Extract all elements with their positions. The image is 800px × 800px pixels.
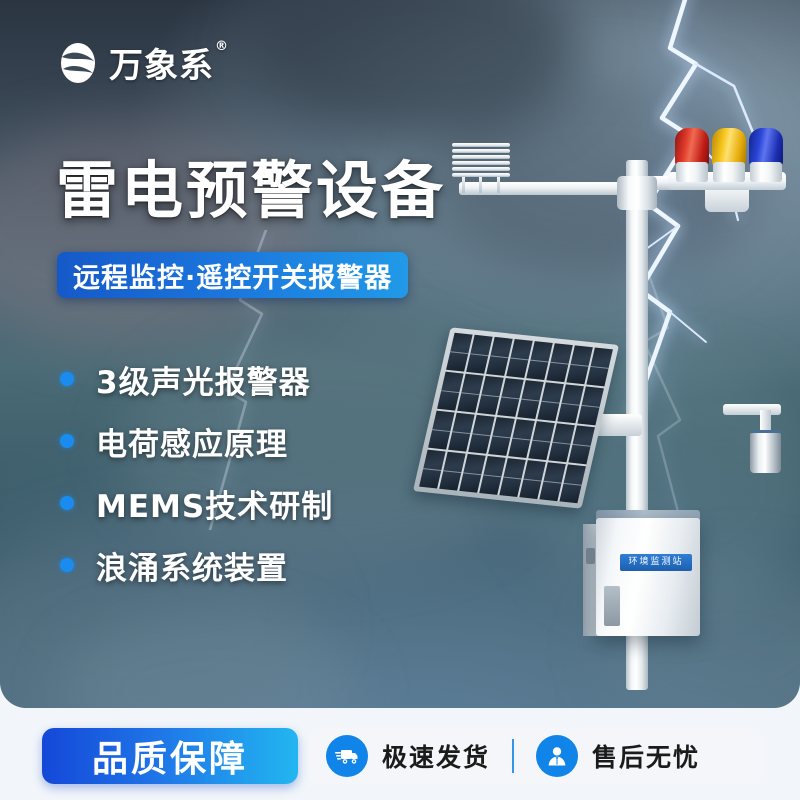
- delivery-truck-icon: [326, 735, 368, 777]
- feature-list: 3级声光报警器 电荷感应原理 MEMS技术研制 浪涌系统装置: [60, 348, 333, 596]
- service-label: 极速发货: [382, 738, 490, 774]
- brand-name: 万象系 ®: [109, 38, 229, 87]
- sensor-arm: [723, 404, 781, 415]
- feature-label: 浪涌系统装置: [96, 543, 288, 588]
- feature-label: 电荷感应原理: [96, 419, 288, 464]
- solar-panel: [413, 327, 619, 508]
- service-label: 售后无忧: [592, 738, 700, 774]
- blue-dot-icon: [60, 496, 74, 510]
- brand-logo: 万象系 ®: [56, 38, 229, 87]
- feature-item: 3级声光报警器: [60, 348, 333, 410]
- radiation-shield-sensor: [452, 143, 510, 177]
- cylindrical-sensor: [750, 430, 781, 473]
- page-title: 雷电预警设备: [56, 140, 446, 230]
- blue-dot-icon: [60, 558, 74, 572]
- feature-item: 浪涌系统装置: [60, 534, 333, 596]
- service-after-sales: 售后无忧: [518, 735, 718, 777]
- service-promises: 极速发货 售后无忧: [308, 728, 764, 784]
- footer-bar: 品质保障 极速发货: [0, 708, 800, 800]
- trademark-icon: ®: [215, 40, 229, 53]
- blue-alarm-beacon: [749, 128, 783, 184]
- feature-label: 3级声光报警器: [96, 357, 311, 402]
- control-box-vent: [604, 586, 620, 626]
- blue-dot-icon: [60, 434, 74, 448]
- subtitle-pill: 远程监控·遥控开关报警器: [57, 252, 408, 298]
- feature-label: MEMS技术研制: [96, 481, 333, 526]
- feature-item: MEMS技术研制: [60, 472, 333, 534]
- quality-guarantee-badge: 品质保障: [42, 728, 298, 784]
- shield-support-legs: [460, 177, 502, 193]
- product-poster: 环境监测站 万象系 ® 雷电预警设备 远程监控·遥控开关报警器 3级声光报警器: [0, 0, 800, 800]
- hero-panel: 环境监测站 万象系 ® 雷电预警设备 远程监控·遥控开关报警器 3级声光报警器: [0, 0, 800, 708]
- feature-item: 电荷感应原理: [60, 410, 333, 472]
- service-divider: [512, 739, 514, 773]
- control-box-label: 环境监测站: [620, 554, 692, 571]
- red-alarm-beacon: [675, 128, 709, 184]
- service-fast-shipping: 极速发货: [308, 735, 508, 777]
- control-box-latch: [586, 548, 595, 564]
- solar-cell-grid: [419, 333, 613, 504]
- swoosh-oval-icon: [56, 41, 100, 85]
- pole-clamp: [617, 176, 657, 210]
- blue-dot-icon: [60, 372, 74, 386]
- customer-support-icon: [536, 735, 578, 777]
- beacon-mount-stem: [705, 188, 749, 212]
- yellow-alarm-beacon: [712, 128, 746, 184]
- brand-name-text: 万象系: [109, 38, 214, 87]
